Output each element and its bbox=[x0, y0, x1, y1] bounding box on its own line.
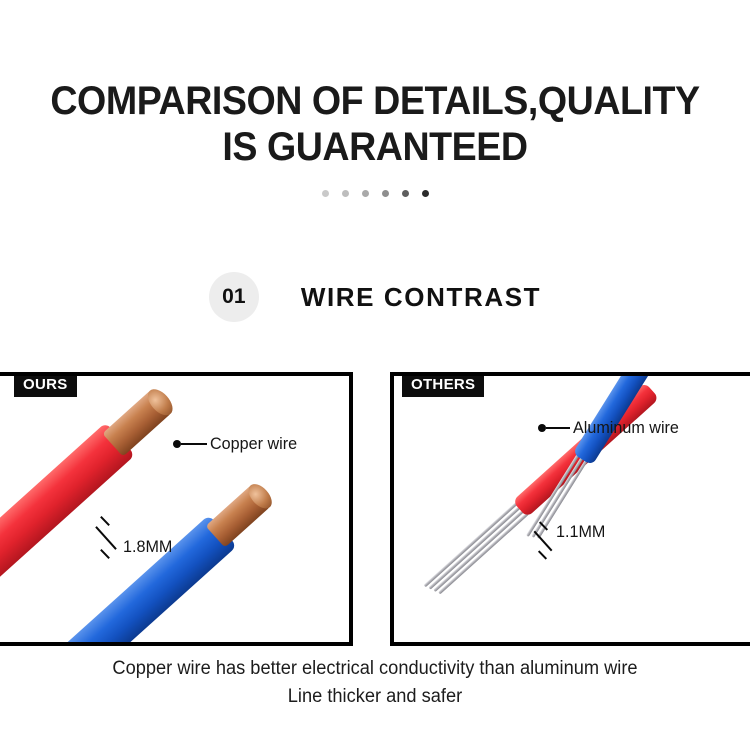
callout-leader-line bbox=[181, 443, 207, 445]
section-number-badge: 01 bbox=[209, 272, 259, 322]
decorative-dot-2 bbox=[342, 190, 349, 197]
section-title: WIRE CONTRAST bbox=[301, 282, 541, 313]
callout-leader-line bbox=[546, 427, 570, 429]
caliper-tick-top-icon bbox=[100, 516, 110, 526]
decorative-dot-5 bbox=[402, 190, 409, 197]
measurement-label-ours: 1.8MM bbox=[123, 537, 172, 557]
aluminum-strand bbox=[424, 502, 518, 587]
caliper-tick-bottom-icon bbox=[538, 550, 547, 559]
decorative-dot-1 bbox=[322, 190, 329, 197]
red-wire-sheath bbox=[0, 422, 135, 610]
caliper-bracket-icon bbox=[95, 526, 117, 550]
aluminum-strand bbox=[428, 504, 522, 589]
panel-tag-others: OTHERS bbox=[402, 372, 484, 397]
measurement-ours: 1.8MM bbox=[105, 521, 235, 555]
section-header: 01 WIRE CONTRAST bbox=[0, 272, 750, 322]
page-title-line-2: IS GUARANTEED bbox=[23, 124, 728, 170]
measurement-label-others: 1.1MM bbox=[556, 522, 605, 542]
measurement-others: 1.1MM bbox=[542, 516, 662, 546]
aluminum-strand bbox=[433, 508, 526, 592]
infographic-page: COMPARISON OF DETAILS,QUALITY IS GUARANT… bbox=[0, 0, 750, 750]
callout-dot-icon bbox=[538, 424, 546, 432]
panel-tag-ours: OURS bbox=[14, 372, 77, 397]
decorative-dot-4 bbox=[382, 190, 389, 197]
callout-label-aluminum-wire: Aluminum wire bbox=[573, 418, 679, 438]
callout-copper-wire: Copper wire bbox=[173, 434, 302, 454]
comparison-panel-others: OTHERS Aluminum wire bbox=[390, 372, 750, 646]
decorative-dot-row bbox=[0, 190, 750, 197]
caliper-tick-bottom-icon bbox=[100, 549, 110, 559]
callout-aluminum-wire: Aluminum wire bbox=[538, 418, 684, 438]
page-title: COMPARISON OF DETAILS,QUALITY IS GUARANT… bbox=[0, 78, 750, 170]
decorative-dot-3 bbox=[362, 190, 369, 197]
callout-label-copper-wire: Copper wire bbox=[210, 434, 297, 454]
comparison-panel-ours: OURS Copper wire bbox=[0, 372, 353, 646]
decorative-dot-6 bbox=[422, 190, 429, 197]
caption-block: Copper wire has better electrical conduc… bbox=[0, 655, 750, 711]
caption-line-1: Copper wire has better electrical conduc… bbox=[15, 655, 735, 683]
wire-illustration-ours: Copper wire 1.8MM bbox=[0, 376, 349, 642]
page-title-line-1: COMPARISON OF DETAILS,QUALITY bbox=[23, 78, 728, 124]
caption-line-2: Line thicker and safer bbox=[15, 683, 735, 711]
aluminum-strand bbox=[438, 512, 529, 595]
callout-dot-icon bbox=[173, 440, 181, 448]
wire-illustration-others: Aluminum wire 1.1MM bbox=[394, 376, 750, 642]
